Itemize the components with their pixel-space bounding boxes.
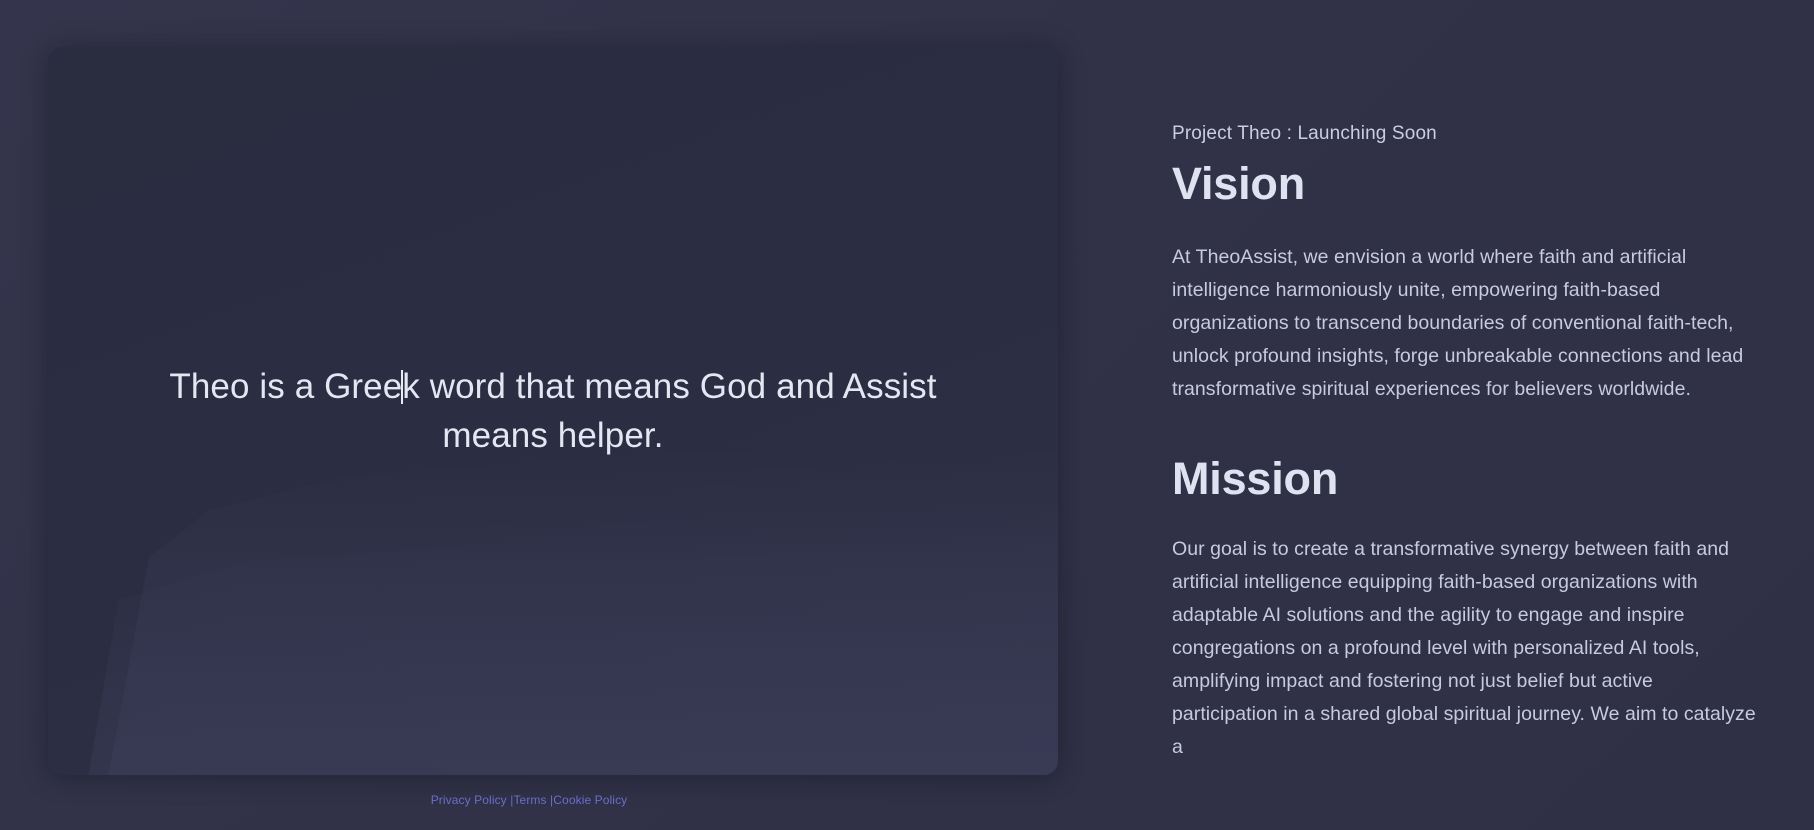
landing-page: Theo is a Greek word that means God and …	[0, 0, 1814, 830]
mission-heading: Mission	[1172, 454, 1814, 504]
footer-links: Privacy Policy |Terms |Cookie Policy	[0, 793, 1058, 807]
left-pane: Theo is a Greek word that means God and …	[0, 0, 1058, 830]
hero-tagline[interactable]: Theo is a Greek word that means God and …	[113, 362, 993, 460]
hero-text-wrap: Theo is a Greek word that means God and …	[48, 47, 1058, 775]
eyebrow-label: Project Theo : Launching Soon	[1172, 123, 1814, 145]
hero-tagline-before-caret: Theo is a Gree	[169, 367, 402, 406]
hero-tagline-after-caret: k word that means God and Assist means h…	[402, 367, 936, 455]
terms-link[interactable]: Terms	[513, 793, 546, 807]
privacy-policy-link[interactable]: Privacy Policy	[431, 793, 507, 807]
mission-body: Our goal is to create a transformative s…	[1172, 533, 1762, 764]
cookie-policy-link[interactable]: Cookie Policy	[553, 793, 627, 807]
hero-card: Theo is a Greek word that means God and …	[48, 47, 1058, 775]
right-pane: Project Theo : Launching Soon Vision At …	[1058, 0, 1814, 830]
vision-heading: Vision	[1172, 159, 1814, 209]
vision-body: At TheoAssist, we envision a world where…	[1172, 241, 1762, 406]
